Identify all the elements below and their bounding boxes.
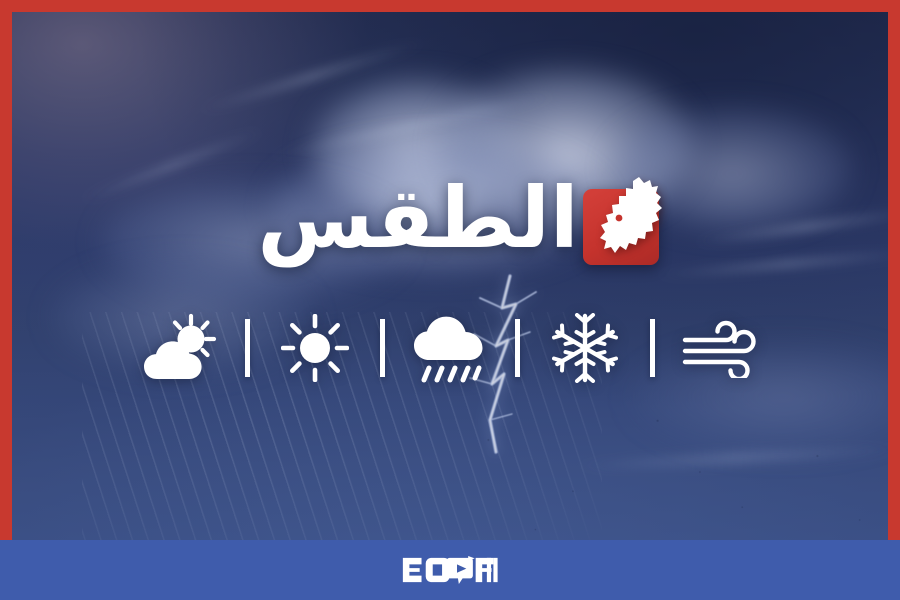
divider	[650, 319, 655, 377]
divider	[515, 319, 520, 377]
title-row: الطقس	[0, 158, 900, 278]
divider	[245, 319, 250, 377]
weather-icon-strip	[0, 300, 900, 396]
sky-speckle-texture	[432, 392, 888, 540]
bottom-brand-bar	[0, 540, 900, 600]
sunny-icon[interactable]	[272, 305, 358, 391]
windy-icon[interactable]	[677, 305, 763, 391]
snowflake-icon[interactable]	[542, 305, 628, 391]
lebanon-map-icon	[595, 175, 667, 265]
lebanon-map-badge	[579, 175, 665, 261]
partly-cloudy-icon[interactable]	[137, 305, 223, 391]
cloud-wisp	[196, 37, 428, 116]
cloud-wisp	[264, 91, 559, 161]
cloud-wisp	[572, 443, 888, 472]
weather-poster: الطقس	[0, 0, 900, 600]
thunderstorm-rain-icon[interactable]	[407, 305, 493, 391]
page-title: الطقس	[257, 176, 578, 260]
divider	[380, 319, 385, 377]
aljadeed-logo[interactable]	[401, 556, 498, 584]
